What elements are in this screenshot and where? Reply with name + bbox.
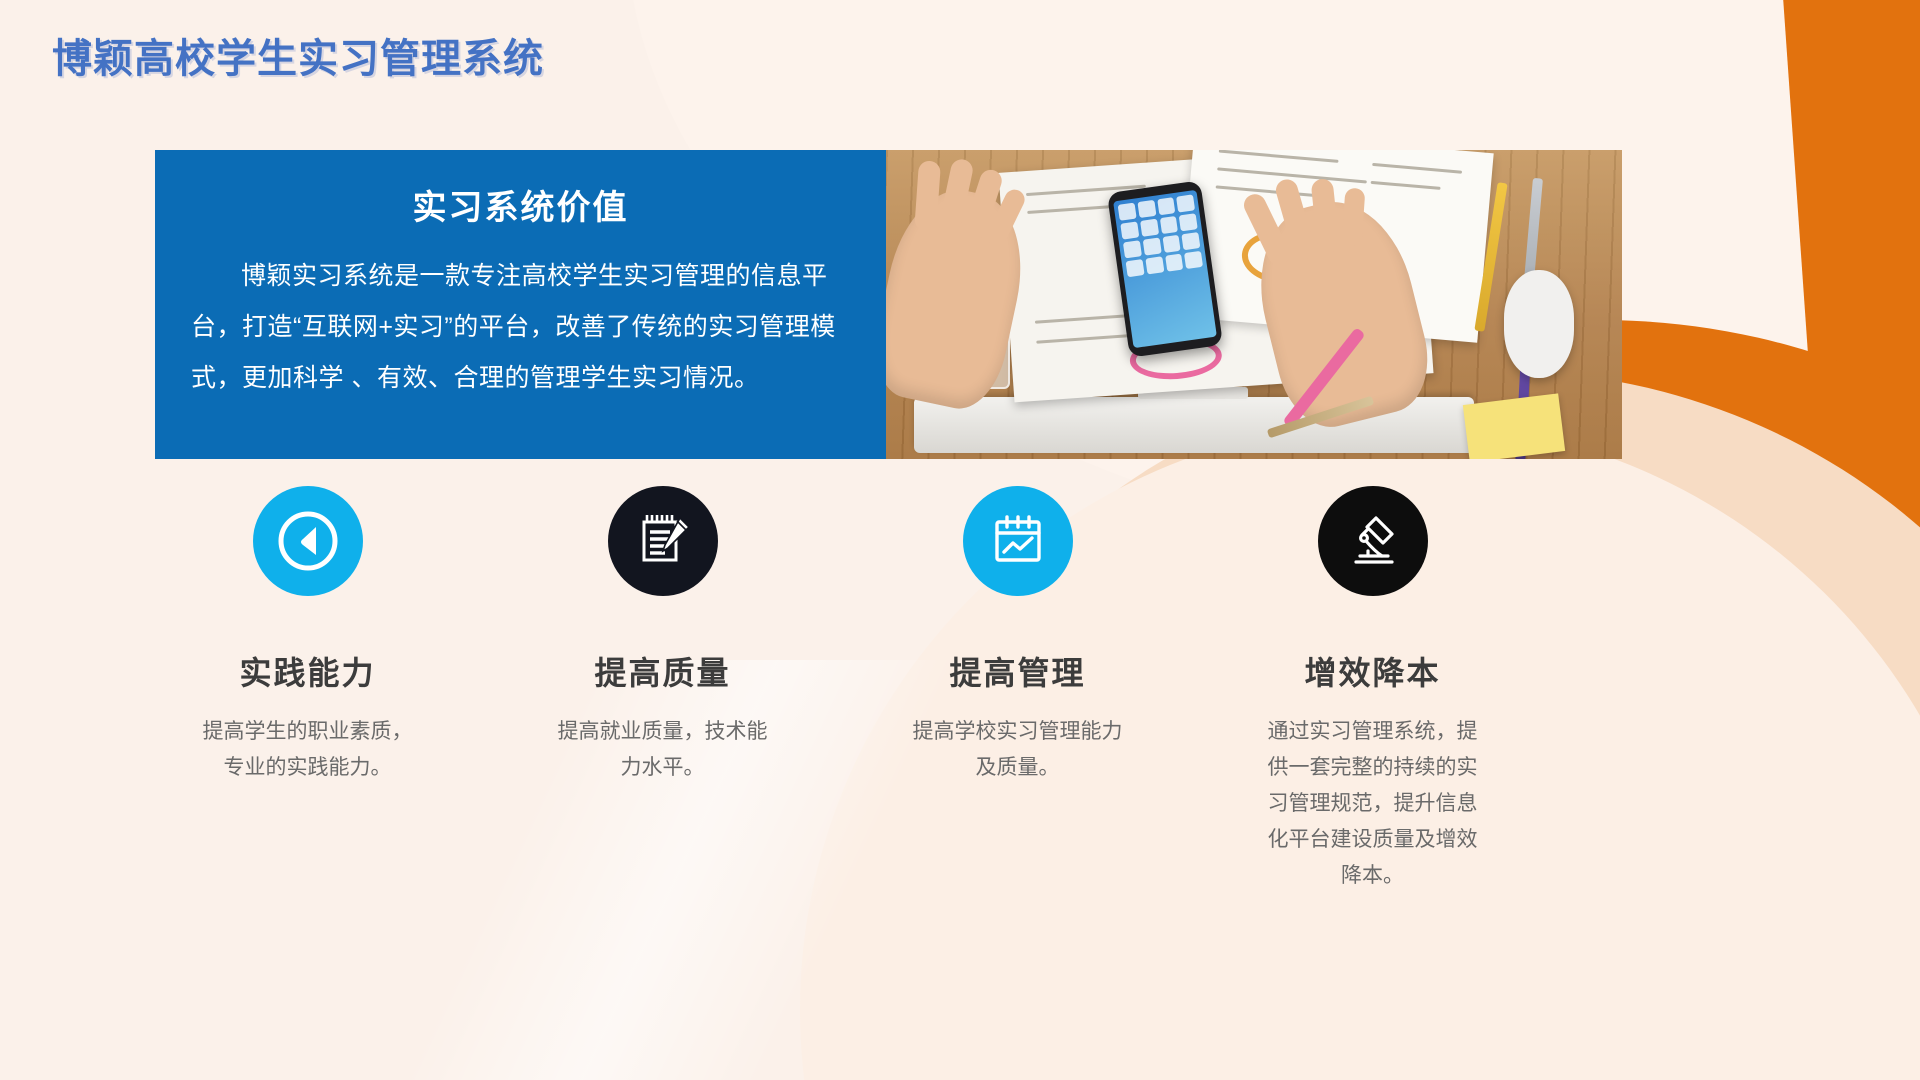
play-circle-icon	[253, 486, 363, 596]
hero-band: 实习系统价值 博颖实习系统是一款专注高校学生实习管理的信息平台，打造“互联网+实…	[155, 150, 1622, 459]
feature-card-practice-ability[interactable]: 实践能力 提高学生的职业素质，专业的实践能力。	[130, 486, 485, 894]
hero-body-text: 博颖实习系统是一款专注高校学生实习管理的信息平台，打造“互联网+实习”的平台，改…	[191, 251, 850, 404]
feature-row: 实践能力 提高学生的职业素质，专业的实践能力。	[130, 486, 1550, 894]
sticky-note	[1463, 393, 1565, 459]
feature-description: 提高学生的职业素质，专业的实践能力。	[193, 714, 423, 786]
hero-heading: 实习系统价值	[191, 180, 850, 229]
feature-title: 提高管理	[949, 648, 1085, 694]
page-title: 博颖高校学生实习管理系统	[52, 26, 544, 84]
microscope-icon	[1318, 486, 1428, 596]
slide-root: 博颖高校学生实习管理系统 实习系统价值 博颖实习系统是一款专注高校学生实习管理的…	[0, 0, 1920, 1080]
feature-card-improve-management[interactable]: 提高管理 提高学校实习管理能力及质量。	[840, 486, 1195, 894]
feature-card-improve-quality[interactable]: 提高质量 提高就业质量，技术能力水平。	[485, 486, 840, 894]
chart-calendar-icon	[963, 486, 1073, 596]
feature-card-efficiency-cost[interactable]: 增效降本 通过实习管理系统，提供一套完整的持续的实习管理规范，提升信息化平台建设…	[1195, 486, 1550, 894]
feature-title: 增效降本	[1304, 648, 1440, 694]
notepad-pencil-icon	[608, 486, 718, 596]
hero-text-panel: 实习系统价值 博颖实习系统是一款专注高校学生实习管理的信息平台，打造“互联网+实…	[155, 150, 886, 459]
computer-mouse	[1504, 270, 1574, 378]
feature-description: 提高学校实习管理能力及质量。	[903, 714, 1133, 786]
hero-photo	[886, 150, 1622, 459]
phone-screen	[1113, 190, 1217, 348]
feature-description: 提高就业质量，技术能力水平。	[548, 714, 778, 786]
feature-title: 实践能力	[239, 648, 375, 694]
feature-title: 提高质量	[594, 648, 730, 694]
feature-description: 通过实习管理系统，提供一套完整的持续的实习管理规范，提升信息化平台建设质量及增效…	[1258, 714, 1488, 894]
